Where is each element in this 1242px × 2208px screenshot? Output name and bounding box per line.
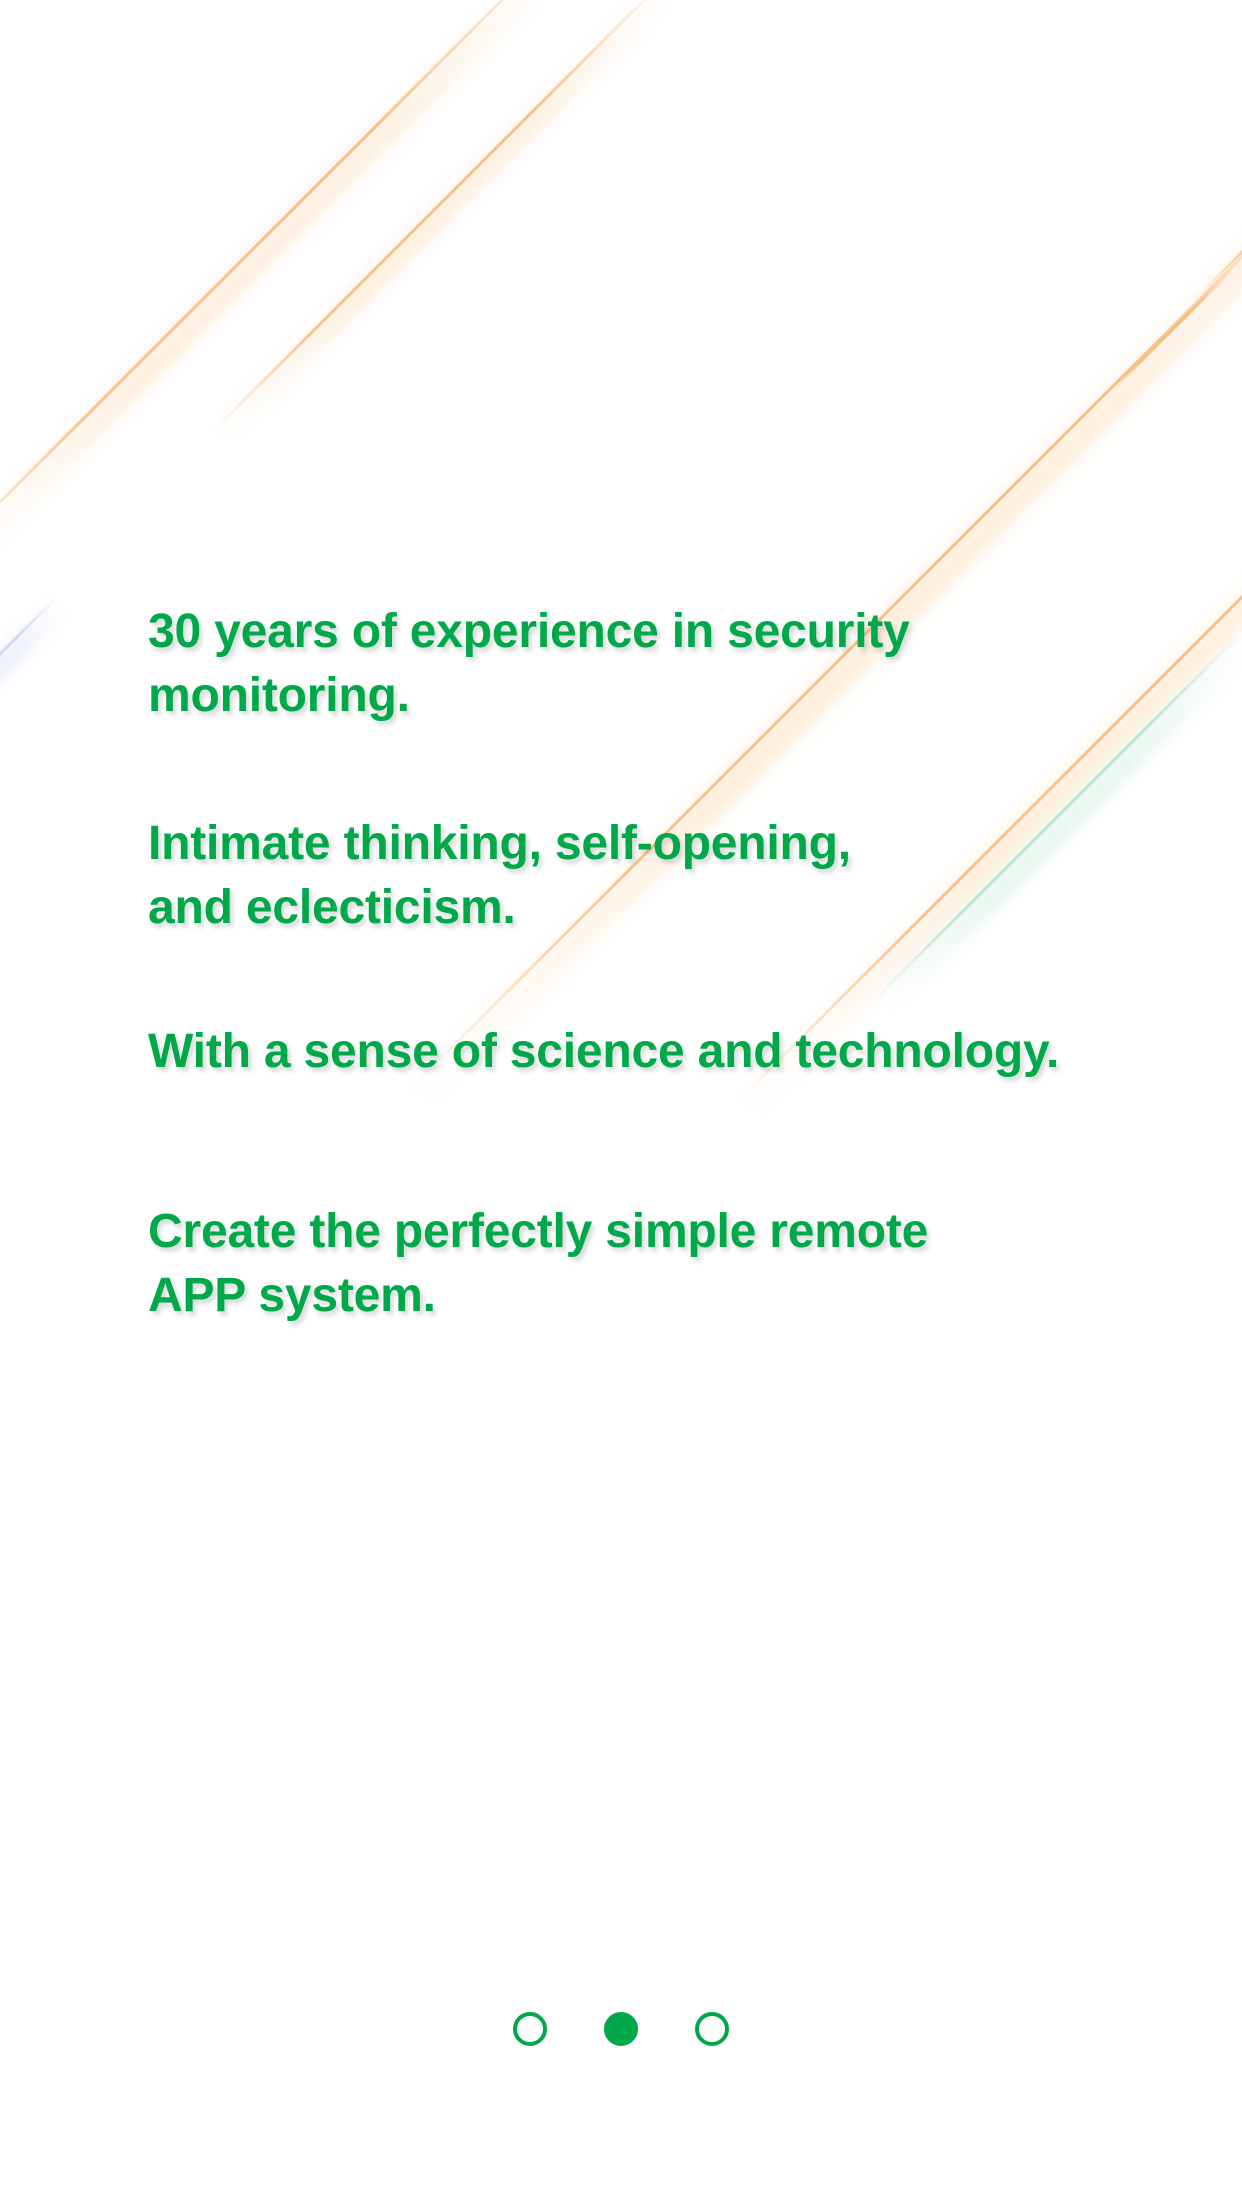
pagination-dot-3[interactable] <box>695 2012 729 2046</box>
pagination-dot-1[interactable] <box>513 2012 547 2046</box>
onboarding-screen: 30 years of experience in security monit… <box>0 0 1242 2208</box>
statement-line-2: Intimate thinking, self-opening, and ecl… <box>148 812 1148 940</box>
statement-list: 30 years of experience in security monit… <box>148 600 1148 1328</box>
pagination-dot-2-active[interactable] <box>604 2012 638 2046</box>
pagination-dots <box>0 2012 1242 2046</box>
statement-line-4: Create the perfectly simple remote APP s… <box>148 1200 1148 1328</box>
screen-content: 30 years of experience in security monit… <box>0 0 1242 2208</box>
statement-line-1: 30 years of experience in security monit… <box>148 600 1148 728</box>
statement-line-3: With a sense of science and technology. <box>148 1020 1148 1084</box>
